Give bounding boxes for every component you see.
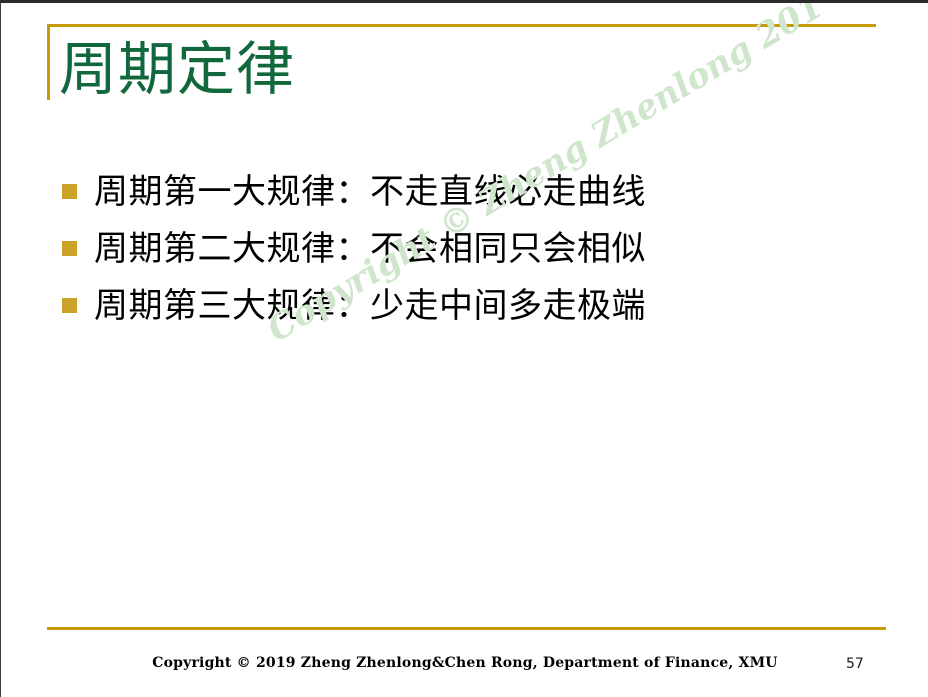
list-item: 周期第三大规律：少走中间多走极端 (62, 277, 862, 334)
bullet-item-label: 周期第三大规律：少走中间多走极端 (94, 286, 646, 326)
header-rule-horizontal (47, 24, 876, 27)
presentation-slide: 周期定律 周期第一大规律：不走直线必走曲线 周期第二大规律：不会相同只会相似 周… (0, 0, 928, 697)
square-bullet-icon (62, 298, 77, 313)
footer-rule (47, 627, 886, 630)
list-item: 周期第二大规律：不会相同只会相似 (62, 220, 862, 277)
bullet-list: 周期第一大规律：不走直线必走曲线 周期第二大规律：不会相同只会相似 周期第三大规… (62, 163, 862, 334)
bullet-item-label: 周期第二大规律：不会相同只会相似 (94, 229, 646, 269)
page-number: 57 (846, 656, 886, 672)
list-item: 周期第一大规律：不走直线必走曲线 (62, 163, 862, 220)
bullet-item-label: 周期第一大规律：不走直线必走曲线 (94, 172, 646, 212)
square-bullet-icon (62, 184, 77, 199)
square-bullet-icon (62, 241, 77, 256)
footer-copyright: Copyright © 2019 Zheng Zhenlong&Chen Ron… (1, 655, 928, 671)
slide-title: 周期定律 (59, 31, 295, 107)
header-rule-vertical (47, 24, 50, 100)
